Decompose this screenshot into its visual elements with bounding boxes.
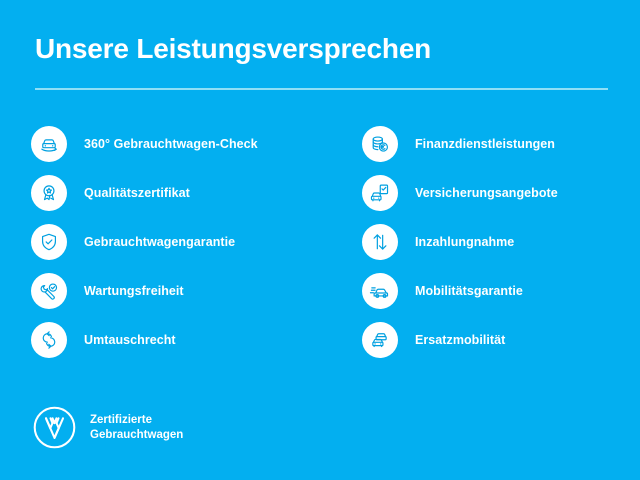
wrench-check-icon [31,273,67,309]
header: Unsere Leistungsversprechen [35,32,610,66]
exchange-arrows-icon [31,322,67,358]
benefit-item-inzahlungnahme[interactable]: Inzahlungnahme [362,224,640,260]
up-down-arrows-icon [362,224,398,260]
shield-check-icon [31,224,67,260]
two-cars-icon [362,322,398,358]
benefit-item-finanzdienstleistungen[interactable]: Finanzdienstleistungen [362,126,640,162]
benefit-item-wartungsfreiheit[interactable]: Wartungsfreiheit [31,273,331,309]
car-speed-icon [362,273,398,309]
benefit-item-gebrauchtwagengarantie[interactable]: Gebrauchtwagengarantie [31,224,331,260]
vw-logo-icon [31,404,78,451]
brand-line-2: Gebrauchtwagen [90,428,183,443]
brand-line-1: Zertifizierte [90,413,183,428]
brand-footer: Zertifizierte Gebrauchtwagen [31,404,183,451]
benefit-label: Mobilitätsgarantie [415,284,523,298]
benefit-label: Wartungsfreiheit [84,284,184,298]
benefit-label: Ersatzmobilität [415,333,505,347]
benefit-item-mobilitaetsgarantie[interactable]: Mobilitätsgarantie [362,273,640,309]
title-divider [35,88,608,90]
benefit-label: Inzahlungnahme [415,235,514,249]
benefit-label: Qualitätszertifikat [84,186,190,200]
car-clipboard-icon [362,175,398,211]
benefit-label: Umtauschrecht [84,333,176,347]
benefit-item-umtauschrecht[interactable]: Umtauschrecht [31,322,331,358]
benefit-item-qualitaetszertifikat[interactable]: Qualitätszertifikat [31,175,331,211]
benefit-item-versicherungsangebote[interactable]: Versicherungsangebote [362,175,640,211]
benefits-column-right: Finanzdienstleistungen Versicherungsange… [362,126,640,358]
benefit-item-ersatzmobilitaet[interactable]: Ersatzmobilität [362,322,640,358]
benefit-item-gebrauchtwagen-check[interactable]: 360° Gebrauchtwagen-Check [31,126,331,162]
car-360-check-icon [31,126,67,162]
benefit-label: 360° Gebrauchtwagen-Check [84,137,258,151]
benefit-label: Finanzdienstleistungen [415,137,555,151]
promise-panel: Unsere Leistungsversprechen 360° Gebrauc… [0,0,640,480]
award-rosette-icon [31,175,67,211]
benefit-label: Versicherungsangebote [415,186,558,200]
coins-euro-icon [362,126,398,162]
page-title: Unsere Leistungsversprechen [35,32,610,66]
brand-text: Zertifizierte Gebrauchtwagen [90,413,183,443]
benefits-column-left: 360° Gebrauchtwagen-Check Qualitätszerti… [31,126,331,358]
benefit-label: Gebrauchtwagengarantie [84,235,235,249]
